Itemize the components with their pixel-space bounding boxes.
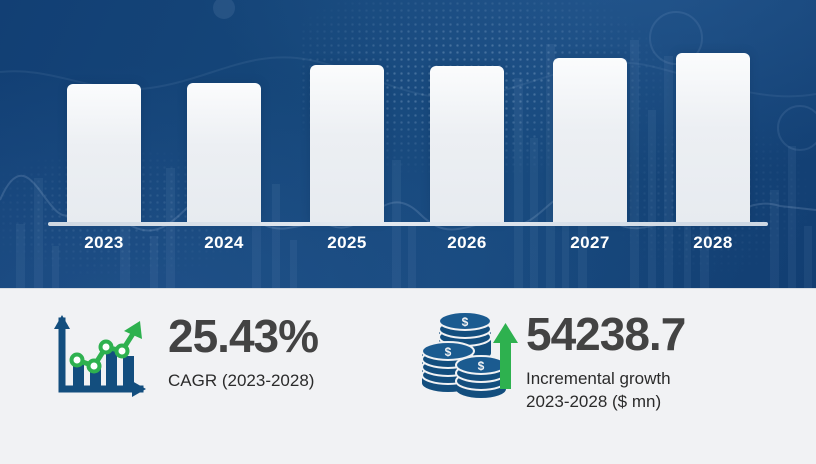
svg-text:$: $ (462, 315, 469, 329)
incremental-growth-caption-line1: Incremental growth (526, 367, 685, 390)
cagr-texts: 25.43% CAGR (2023-2028) (168, 311, 318, 392)
cagr-value: 25.43% (168, 311, 318, 361)
x-axis-label-2024: 2024 (164, 233, 284, 253)
svg-text:$: $ (478, 359, 485, 373)
svg-text:$: $ (445, 345, 452, 359)
x-axis-label-2026: 2026 (407, 233, 527, 253)
x-axis-label-2023: 2023 (44, 233, 164, 253)
bar-chart-panel: +14% 2023 2024 2025 2026 2027 2028 (0, 0, 816, 288)
bar-2028 (676, 53, 750, 222)
x-axis-label-2027: 2027 (530, 233, 650, 253)
incremental-growth-value: 54238.7 (526, 309, 685, 359)
incremental-growth-caption-line2: 2023-2028 ($ mn) (526, 390, 685, 413)
coins-stack-up-arrow-icon: $ $ (418, 309, 518, 401)
bar-2026 (430, 66, 504, 222)
incremental-growth-icon-wrapper: $ $ (418, 309, 518, 406)
bar-2025 (310, 65, 384, 222)
bar-2023 (67, 84, 141, 222)
bar-2027 (553, 58, 627, 222)
market-growth-infographic: +14% 2023 2024 2025 2026 2027 2028 (0, 0, 816, 464)
incremental-growth-texts: 54238.7 Incremental growth 2023-2028 ($ … (526, 309, 685, 413)
stats-panel: 25.43% CAGR (2023-2028) (0, 288, 816, 464)
stat-incremental-growth: $ $ (408, 289, 816, 464)
cagr-icon-wrapper (48, 315, 146, 404)
cagr-caption: CAGR (2023-2028) (168, 369, 318, 392)
chart-baseline-axis (48, 222, 768, 226)
bar-chart-growth-icon (48, 315, 146, 399)
x-axis-label-2025: 2025 (287, 233, 407, 253)
bar-2024 (187, 83, 261, 222)
x-axis-label-2028: 2028 (653, 233, 773, 253)
stat-cagr: 25.43% CAGR (2023-2028) (0, 289, 408, 464)
